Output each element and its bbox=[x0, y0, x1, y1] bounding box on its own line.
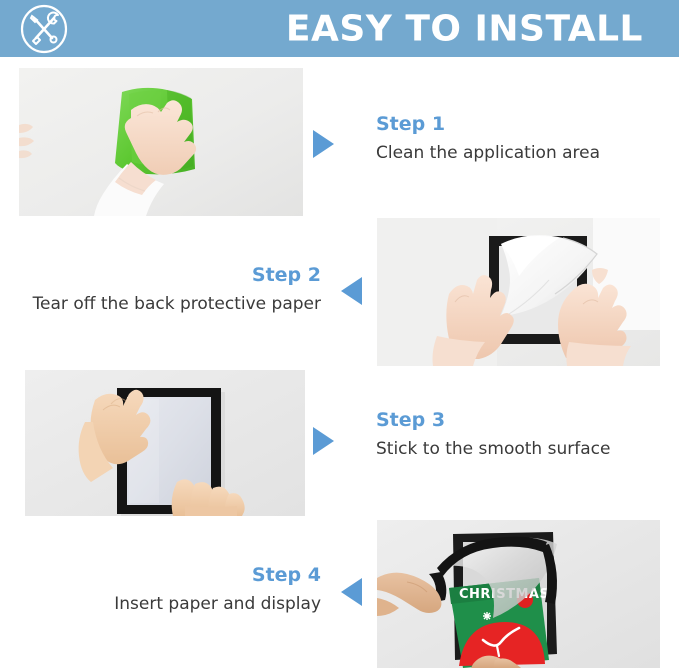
easy-to-install-instruction-graphic: EASY TO INSTALL bbox=[0, 0, 679, 668]
step-1-title: Step 1 bbox=[376, 113, 600, 137]
step-3-arrow-right-icon bbox=[313, 427, 334, 455]
tools-wrench-screwdriver-icon bbox=[18, 4, 70, 54]
step-2-text: Step 2 Tear off the back protective pape… bbox=[33, 264, 321, 315]
step-3-description: Stick to the smooth surface bbox=[376, 438, 610, 460]
step-2-title: Step 2 bbox=[33, 264, 321, 288]
step-4-arrow-left-icon bbox=[341, 578, 362, 606]
step-1-arrow-right-icon bbox=[313, 130, 334, 158]
step-4-title: Step 4 bbox=[114, 564, 321, 588]
step-1-text: Step 1 Clean the application area bbox=[376, 113, 600, 164]
step-4-photo: CHRISTMAS bbox=[377, 520, 660, 668]
step-4-description: Insert paper and display bbox=[114, 593, 321, 615]
page-title: EASY TO INSTALL bbox=[286, 8, 643, 49]
step-3-title: Step 3 bbox=[376, 409, 610, 433]
step-2-description: Tear off the back protective paper bbox=[33, 293, 321, 315]
step-3-photo bbox=[25, 370, 305, 516]
step-1-photo bbox=[19, 68, 303, 216]
step-2-arrow-left-icon bbox=[341, 277, 362, 305]
step-2-photo bbox=[377, 218, 660, 366]
step-1-description: Clean the application area bbox=[376, 142, 600, 164]
header-banner: EASY TO INSTALL bbox=[0, 0, 679, 57]
step-4-text: Step 4 Insert paper and display bbox=[114, 564, 321, 615]
step-3-text: Step 3 Stick to the smooth surface bbox=[376, 409, 610, 460]
